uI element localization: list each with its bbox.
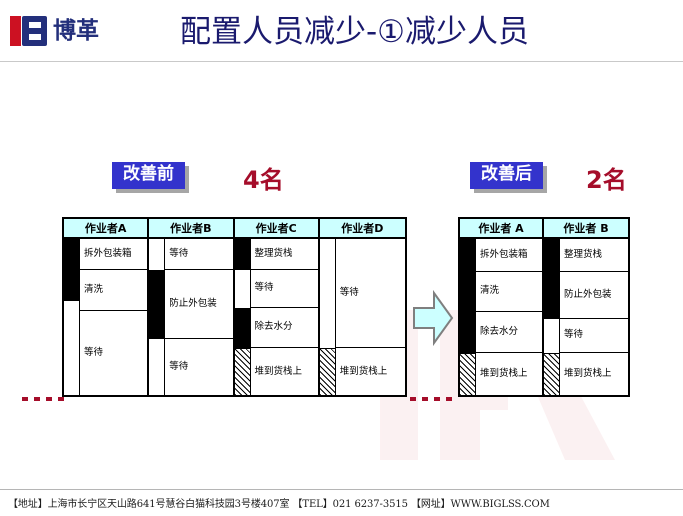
before-column-body: 整理货栈等待除去水分堆到货栈上: [235, 239, 318, 395]
before-column-header: 作业者B: [149, 219, 232, 239]
before-column-body: 等待堆到货栈上: [320, 239, 405, 395]
before-count: 4名: [243, 168, 284, 192]
before-column-3: 作业者C整理货栈等待除去水分堆到货栈上: [235, 219, 320, 395]
activity-segment-white: [64, 301, 79, 395]
task-cell: 防止外包装: [165, 270, 232, 339]
before-task-list: 拆外包装箱清洗等待: [80, 239, 147, 395]
before-column-body: 拆外包装箱清洗等待: [64, 239, 147, 395]
activity-segment-white: [544, 319, 559, 353]
task-cell: 除去水分: [251, 308, 318, 349]
after-column-2: 作业者 B整理货栈防止外包装等待堆到货栈上: [544, 219, 628, 395]
after-column-body: 整理货栈防止外包装等待堆到货栈上: [544, 239, 628, 395]
task-cell: 清洗: [476, 272, 542, 313]
after-task-list: 拆外包装箱清洗除去水分堆到货栈上: [476, 239, 542, 395]
task-cell: 等待: [336, 239, 405, 348]
activity-segment-hatch: [320, 348, 335, 395]
before-worker-table: 作业者A拆外包装箱清洗等待作业者B等待防止外包装等待作业者C整理货栈等待除去水分…: [62, 217, 407, 397]
after-worker-table: 作业者 A拆外包装箱清洗除去水分堆到货栈上作业者 B整理货栈防止外包装等待堆到货…: [458, 217, 630, 397]
after-badge: 改善后: [470, 162, 543, 189]
before-badge-wrap: 改善前: [112, 162, 185, 189]
task-cell: 等待: [560, 319, 628, 353]
footer-contact: 【地址】上海市长宁区天山路641号慧谷白猫科技园3号楼407室 【TEL】021…: [8, 495, 678, 510]
task-cell: 整理货栈: [560, 239, 628, 272]
activity-segment-black: [64, 239, 79, 301]
brand-logo: 博革: [10, 14, 99, 48]
activity-segment-black: [460, 239, 475, 353]
activity-segment-white: [149, 239, 164, 270]
activity-segment-hatch: [235, 348, 250, 395]
after-count: 2名: [586, 168, 627, 192]
after-column-header: 作业者 B: [544, 219, 628, 239]
task-cell: 拆外包装箱: [476, 239, 542, 272]
task-cell: 堆到货栈上: [251, 348, 318, 395]
before-column-1: 作业者A拆外包装箱清洗等待: [64, 219, 149, 395]
after-column-body: 拆外包装箱清洗除去水分堆到货栈上: [460, 239, 542, 395]
activity-segment-black: [149, 270, 164, 339]
before-task-list: 整理货栈等待除去水分堆到货栈上: [251, 239, 318, 395]
brand-name: 博革: [53, 20, 99, 43]
before-column-header: 作业者C: [235, 219, 318, 239]
activity-segment-white: [235, 270, 250, 307]
task-cell: 防止外包装: [560, 272, 628, 319]
task-cell: 堆到货栈上: [476, 353, 542, 395]
before-activity-bar: [64, 239, 80, 395]
task-cell: 清洗: [80, 270, 147, 311]
task-cell: 等待: [165, 239, 232, 270]
after-task-list: 整理货栈防止外包装等待堆到货栈上: [560, 239, 628, 395]
activity-segment-hatch: [460, 353, 475, 395]
activity-segment-hatch: [544, 353, 559, 395]
task-cell: 除去水分: [476, 312, 542, 353]
before-column-header: 作业者A: [64, 219, 147, 239]
header-divider: [0, 61, 683, 62]
before-column-2: 作业者B等待防止外包装等待: [149, 219, 234, 395]
task-cell: 等待: [165, 339, 232, 395]
activity-segment-black: [235, 239, 250, 270]
task-cell: 堆到货栈上: [560, 353, 628, 395]
task-cell: 整理货栈: [251, 239, 318, 270]
before-column-4: 作业者D等待堆到货栈上: [320, 219, 405, 395]
after-column-1: 作业者 A拆外包装箱清洗除去水分堆到货栈上: [460, 219, 544, 395]
after-badge-wrap: 改善后: [470, 162, 543, 189]
after-baseline-dash: [410, 397, 458, 401]
before-activity-bar: [320, 239, 336, 395]
activity-segment-black: [544, 239, 559, 319]
slide-header: 博革 配置人员减少-①减少人员: [0, 0, 683, 62]
before-badge: 改善前: [112, 162, 185, 189]
after-activity-bar: [544, 239, 560, 395]
before-task-list: 等待堆到货栈上: [336, 239, 405, 395]
before-activity-bar: [149, 239, 165, 395]
page-title: 配置人员减少-①减少人员: [180, 6, 680, 51]
activity-segment-black: [235, 308, 250, 349]
biglss-logo-icon: [10, 16, 48, 46]
before-task-list: 等待防止外包装等待: [165, 239, 232, 395]
task-cell: 堆到货栈上: [336, 348, 405, 395]
after-column-header: 作业者 A: [460, 219, 542, 239]
task-cell: 等待: [251, 270, 318, 307]
before-column-header: 作业者D: [320, 219, 405, 239]
activity-segment-white: [320, 239, 335, 348]
before-baseline-dash: [22, 397, 64, 401]
activity-segment-white: [149, 339, 164, 395]
after-activity-bar: [460, 239, 476, 395]
footer-divider: [0, 489, 683, 490]
before-activity-bar: [235, 239, 251, 395]
task-cell: 等待: [80, 311, 147, 395]
before-column-body: 等待防止外包装等待: [149, 239, 232, 395]
right-arrow-icon: [412, 288, 454, 348]
task-cell: 拆外包装箱: [80, 239, 147, 270]
